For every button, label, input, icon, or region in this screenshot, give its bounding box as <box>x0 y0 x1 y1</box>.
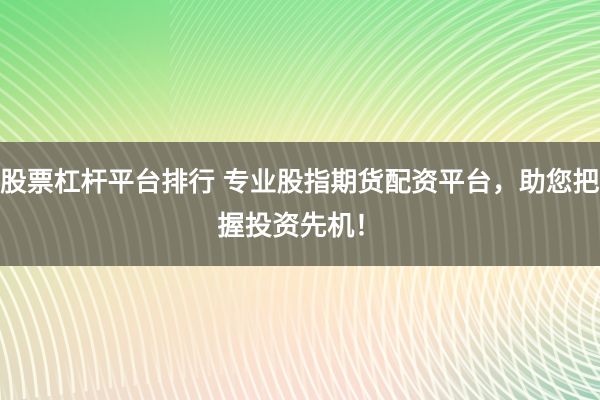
arc-pattern-bottom-right-icon <box>300 250 600 400</box>
headline-band: 股票杠杆平台排行 专业股指期货配资平台，助您把 握投资先机！ <box>0 142 600 266</box>
headline-line-1: 股票杠杆平台排行 专业股指期货配资平台，助您把 <box>0 160 600 204</box>
promo-banner: 股票杠杆平台排行 专业股指期货配资平台，助您把 握投资先机！ <box>0 0 600 400</box>
headline-line-2: 握投资先机！ <box>218 204 382 248</box>
